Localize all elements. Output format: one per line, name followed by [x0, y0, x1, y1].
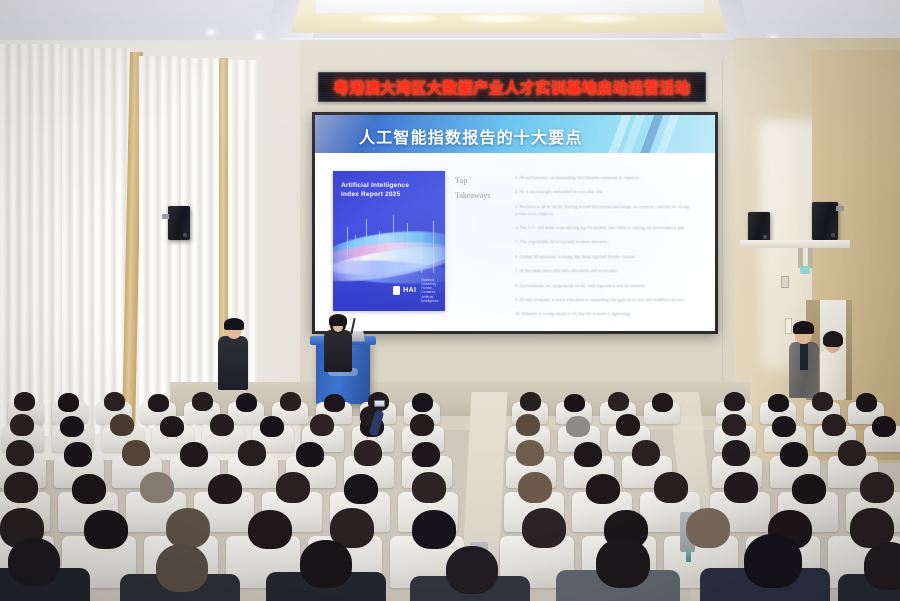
- smartphone[interactable]: [374, 400, 385, 407]
- audience-head: [812, 392, 833, 411]
- audience-head: [84, 510, 128, 549]
- ceiling-downlight: [256, 34, 262, 39]
- takeaway-item: 6. Global AI optimism is rising, but dee…: [515, 254, 703, 261]
- takeaway-item: 1. AI performance on demanding benchmark…: [515, 175, 703, 182]
- audience-head: [72, 474, 106, 504]
- takeaway-item: 2. AI is increasingly embedded in everyd…: [515, 189, 703, 196]
- audience-head: [110, 414, 134, 436]
- audience-head: [148, 394, 169, 412]
- audience-head: [6, 440, 34, 466]
- audience-head: [792, 474, 826, 504]
- audience-head: [236, 393, 257, 412]
- audience-head: [722, 440, 750, 466]
- takeaways-label-line1: Top: [455, 173, 515, 188]
- speaker-bracket: [162, 214, 169, 219]
- ledge-support: [808, 248, 813, 268]
- report-cover-image: Artificial Intelligence Index Report 202…: [333, 171, 445, 311]
- audience-head: [410, 414, 434, 436]
- audience-head: [686, 508, 730, 548]
- audience-head: [860, 472, 894, 503]
- audience-head: [780, 442, 808, 467]
- wall-speaker-icon: [168, 206, 190, 240]
- audience-head: [518, 472, 552, 503]
- hai-logo-text: HAI: [403, 287, 416, 294]
- presenter-body: [324, 330, 352, 372]
- audience-head: [722, 414, 746, 436]
- slide-text-column: Top Takeaways 1. AI performance on deman…: [447, 153, 715, 331]
- audience-head: [208, 474, 242, 504]
- cover-title-line1: Artificial Intelligence: [341, 181, 437, 190]
- audience-head-foreground: [8, 538, 60, 586]
- audience-head: [248, 510, 292, 549]
- projection-screen: 人工智能指数报告的十大要点: [315, 115, 715, 331]
- wall-switch-plate[interactable]: [781, 276, 789, 288]
- audience-head: [260, 416, 284, 437]
- audience-head: [140, 472, 174, 503]
- hai-logo-subtext: Stanford University Human-Centered Artif…: [421, 278, 445, 304]
- speaker-bracket: [836, 206, 844, 211]
- takeaways-list: 1. AI performance on demanding benchmark…: [515, 173, 703, 331]
- wall-speaker-icon: [748, 212, 770, 242]
- takeaway-item: 10. Industry is racing ahead in AI, but …: [515, 311, 703, 318]
- audience-head: [238, 440, 266, 466]
- audience-head: [772, 416, 796, 437]
- wall-drape-panel: [139, 56, 181, 428]
- cove-lamp: [560, 14, 638, 23]
- takeaways-label-line2: Takeaways: [455, 188, 515, 203]
- audience-head: [654, 472, 688, 503]
- audience-head: [412, 510, 456, 549]
- seat-leg: [686, 548, 691, 562]
- takeaway-item: 8. Governments are stepping up on AI, wi…: [515, 283, 703, 290]
- wall-drape-panel: [62, 48, 130, 434]
- man-in-suit-hair: [793, 321, 814, 334]
- audience-head: [324, 394, 345, 412]
- audience-head: [160, 416, 184, 437]
- audience-head: [724, 392, 745, 411]
- hai-logo-mark-icon: [393, 286, 400, 295]
- hai-logo: HAI Stanford University Human-Centered A…: [393, 278, 445, 304]
- audience-head: [14, 392, 35, 411]
- audience-head: [838, 440, 866, 466]
- audience-head: [210, 414, 234, 436]
- led-banner-text: 粤港澳大湾区大数据产业人才实训基地启动运营活动: [334, 77, 691, 98]
- audience-head: [652, 393, 673, 412]
- audience-head: [564, 394, 585, 412]
- takeaway-item: 9. AI and computer science education is …: [515, 297, 703, 304]
- audience-head: [412, 393, 433, 412]
- audience-head: [608, 392, 629, 411]
- report-cover-wrap: Artificial Intelligence Index Report 202…: [315, 153, 447, 331]
- audience-head: [166, 508, 210, 548]
- wall-drape-panel: [0, 44, 62, 436]
- audience-head: [412, 442, 440, 467]
- wall-ledge: [740, 240, 850, 248]
- audience-head: [58, 393, 79, 412]
- audience-head: [822, 414, 846, 436]
- audience-head: [872, 416, 896, 437]
- audience-head: [310, 414, 334, 436]
- slide-header: 人工智能指数报告的十大要点: [315, 115, 715, 153]
- ceiling-cove-inner: [316, 0, 704, 13]
- audience-head: [280, 392, 301, 411]
- projection-screen-frame: 人工智能指数报告的十大要点: [312, 112, 718, 334]
- audience-head: [586, 474, 620, 504]
- takeaway-item: 4. The U.S. still leads in producing top…: [515, 225, 703, 232]
- wall-switch-plate[interactable]: [785, 318, 792, 334]
- woman-white-coat-hair: [823, 331, 843, 347]
- audience-head: [616, 414, 640, 436]
- audience-head: [4, 472, 38, 503]
- audience-head: [520, 392, 541, 411]
- audience-head: [296, 442, 324, 467]
- wall-speaker-icon: [812, 202, 838, 240]
- wall-drape-panel: [181, 58, 219, 426]
- takeaway-item: 3. Business is all in on AI, fueling rec…: [515, 204, 703, 218]
- takeaways-label: Top Takeaways: [455, 173, 515, 331]
- photo-scene: 粤港澳大湾区大数据产业人才实训基地启动运营活动 人工智能指数报告的十大要点: [0, 0, 900, 601]
- audience-head: [522, 508, 566, 548]
- audience-head: [516, 414, 540, 436]
- audience-head: [276, 472, 310, 503]
- ledge-support: [798, 248, 803, 268]
- audience-head-foreground: [864, 542, 900, 590]
- audience-head: [566, 416, 590, 437]
- slide-body: Artificial Intelligence Index Report 202…: [315, 153, 715, 331]
- cover-title-line2: Index Report 2025: [341, 190, 437, 199]
- led-banner: 粤港澳大湾区大数据产业人才实训基地启动运营活动: [318, 72, 706, 102]
- audience-head: [516, 440, 544, 466]
- standing-person-left-hair: [224, 318, 244, 330]
- audience-head: [10, 414, 34, 436]
- slide-title: 人工智能指数报告的十大要点: [359, 124, 583, 148]
- audience-head-foreground: [446, 546, 498, 594]
- audience-head: [724, 472, 758, 503]
- audience-head: [632, 440, 660, 466]
- report-cover-title: Artificial Intelligence Index Report 202…: [341, 181, 437, 200]
- audience-head: [64, 442, 92, 467]
- audience-head-foreground: [300, 540, 352, 588]
- audience-head: [104, 392, 125, 411]
- audience-head: [192, 392, 213, 411]
- audience-head: [354, 440, 382, 466]
- ceiling-downlight: [208, 30, 214, 35]
- audience-head: [180, 442, 208, 467]
- wall-sensor: [800, 266, 810, 274]
- man-in-suit-shirt: [800, 344, 808, 370]
- audience-head: [768, 394, 789, 412]
- standing-person-left-body: [218, 336, 248, 390]
- presenter-hair: [329, 314, 347, 326]
- audience-head: [344, 474, 378, 504]
- wall-seam: [722, 60, 723, 390]
- audience-head: [122, 440, 150, 466]
- audience-head: [574, 442, 602, 467]
- cove-lamp: [360, 14, 438, 23]
- audience-head-foreground: [744, 534, 802, 588]
- takeaway-item: 5. The responsible AI ecosystem evolves …: [515, 239, 703, 246]
- cove-lamp: [460, 14, 538, 23]
- audience-head-foreground: [596, 538, 650, 588]
- audience-head-foreground: [156, 544, 208, 592]
- audience-head: [856, 393, 877, 412]
- takeaway-item: 7. AI becomes more efficient, affordable…: [515, 268, 703, 275]
- audience-area: [0, 392, 900, 601]
- audience-head: [60, 416, 84, 437]
- audience-head: [412, 472, 446, 503]
